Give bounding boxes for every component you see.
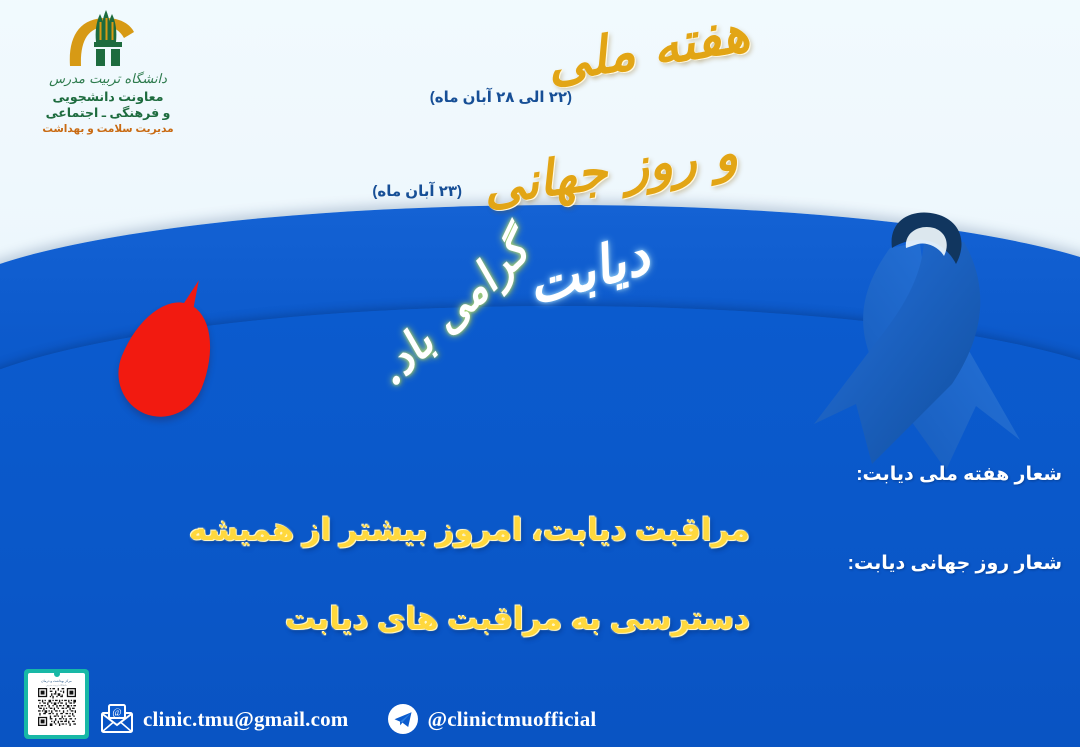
qr-code-inner: مرکز بهداشت و درمان دانشگاه تربیت مدرس	[28, 673, 85, 735]
headline-line-1-date: (۲۲ الی ۲۸ آبان ماه)	[430, 88, 572, 106]
logo-university-name: دانشگاه تربیت مدرس	[18, 72, 198, 88]
logo-line-3: مدیریت سلامت و بهداشت	[18, 123, 198, 137]
telegram-handle: @clinictmuofficial	[428, 707, 597, 732]
worldday-slogan-label: شعار روز جهانی دیابت:	[848, 552, 1062, 575]
footer-bar: مرکز بهداشت و درمان دانشگاه تربیت مدرس	[0, 689, 1080, 747]
weekly-slogan-text: مراقبت دیابت، امروز بیشتر از همیشه	[189, 512, 750, 548]
qr-subcaption: دانشگاه تربیت مدرس	[46, 684, 67, 687]
awareness-ribbon-icon	[780, 208, 1080, 478]
university-logo-block: دانشگاه تربیت مدرس معاونت دانشجویی و فره…	[18, 8, 198, 136]
worldday-slogan-text: دسترسی به مراقبت های دیابت	[285, 601, 750, 637]
weekly-slogan-label: شعار هفته ملی دیابت:	[856, 463, 1062, 486]
tmu-plant-logo-icon	[60, 8, 156, 70]
email-address: clinic.tmu@gmail.com	[143, 707, 349, 732]
telegram-icon	[387, 703, 419, 735]
qr-code-card[interactable]: مرکز بهداشت و درمان دانشگاه تربیت مدرس	[24, 669, 89, 739]
logo-line-2: و فرهنگی ـ اجتماعی	[18, 105, 198, 122]
poster-canvas: دانشگاه تربیت مدرس معاونت دانشجویی و فره…	[0, 0, 1080, 747]
telegram-contact[interactable]: @clinictmuofficial	[387, 703, 597, 735]
envelope-at-icon: @	[100, 704, 134, 734]
qr-code-icon	[38, 688, 76, 726]
svg-text:@: @	[112, 708, 121, 719]
contact-row: @ clinic.tmu@gmail.com @clinictmuofficia…	[100, 697, 596, 741]
logo-line-1: معاونت دانشجویی	[18, 89, 198, 106]
email-contact[interactable]: @ clinic.tmu@gmail.com	[100, 704, 349, 734]
headline-line-2-date: (۲۳ آبان ماه)	[372, 182, 462, 200]
